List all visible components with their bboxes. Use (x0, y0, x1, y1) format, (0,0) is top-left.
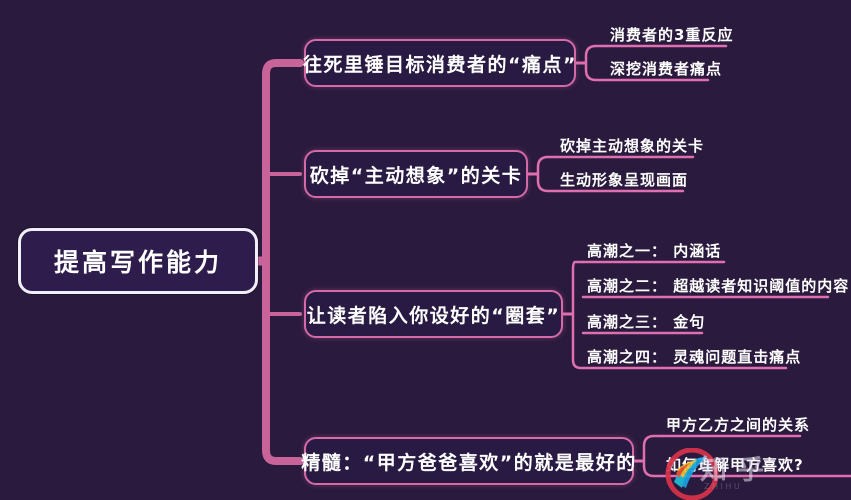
leaf-node-2-2-label: 生动形象呈现画面 (556, 169, 690, 193)
leaf-node-3-3[interactable]: 高潮之三： 金句 (583, 311, 707, 340)
leaf-node-2-1-label: 砍掉主动想象的关卡 (556, 135, 706, 159)
leaf-node-3-1-label: 高潮之一： 内涵话 (583, 240, 723, 264)
leaf-node-1-1[interactable]: 消费者的3重反应 (606, 24, 735, 53)
mindmap-canvas: 提高写作能力 往死里锤目标消费者的“痛点” 砍掉“主动想象”的关卡 让读者陷入你… (0, 0, 851, 500)
root-node[interactable]: 提高写作能力 (18, 228, 258, 294)
leaf-node-2-2[interactable]: 生动形象呈现画面 (556, 169, 690, 198)
leaf-node-3-4[interactable]: 高潮之四： 灵魂问题直击痛点 (583, 346, 803, 375)
leaf-node-2-1[interactable]: 砍掉主动想象的关卡 (556, 135, 706, 164)
leaf-node-3-3-label: 高潮之三： 金句 (583, 311, 707, 335)
leaf-node-3-4-label: 高潮之四： 灵魂问题直击痛点 (583, 346, 803, 370)
root-node-label: 提高写作能力 (54, 243, 222, 279)
leaf-node-1-2[interactable]: 深挖消费者痛点 (606, 58, 724, 87)
leaf-node-3-2[interactable]: 高潮之二： 超越读者知识阈值的内容 (583, 275, 851, 304)
leaf-node-4-1-label: 甲方乙方之间的关系 (662, 414, 812, 438)
branch-node-2[interactable]: 砍掉“主动想象”的关卡 (304, 150, 528, 198)
watermark: 知乎 ZHIHU (660, 442, 851, 500)
branch-node-1-label: 往死里锤目标消费者的“痛点” (303, 50, 577, 77)
branch-node-2-label: 砍掉“主动想象”的关卡 (310, 161, 522, 188)
leaf-node-1-1-label: 消费者的3重反应 (606, 24, 735, 48)
leaf-node-3-1[interactable]: 高潮之一： 内涵话 (583, 240, 723, 269)
branch-node-4-label: 精髓：“甲方爸爸喜欢”的就是最好的 (301, 448, 636, 475)
branch-node-1[interactable]: 往死里锤目标消费者的“痛点” (304, 39, 576, 87)
branch-node-3-label: 让读者陷入你设好的“圈套” (307, 301, 560, 328)
leaf-node-1-2-label: 深挖消费者痛点 (606, 58, 724, 82)
branch-node-4[interactable]: 精髓：“甲方爸爸喜欢”的就是最好的 (304, 437, 634, 485)
leaf-node-4-1[interactable]: 甲方乙方之间的关系 (662, 414, 812, 443)
branch-node-3[interactable]: 让读者陷入你设好的“圈套” (304, 290, 563, 338)
watermark-subtext: ZHIHU (704, 482, 742, 491)
leaf-node-3-2-label: 高潮之二： 超越读者知识阈值的内容 (583, 275, 851, 299)
